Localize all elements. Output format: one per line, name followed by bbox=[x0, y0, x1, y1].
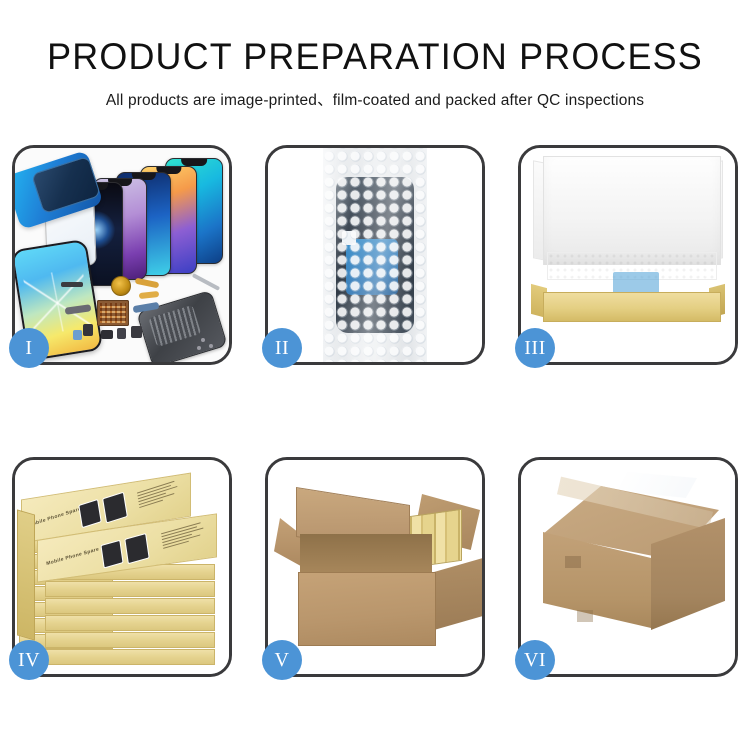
step-badge-6: VI bbox=[515, 640, 555, 680]
carton-inner-wall-icon bbox=[300, 534, 432, 576]
step-image-6 bbox=[521, 460, 735, 674]
step-badge-2: II bbox=[262, 328, 302, 368]
carton-front-icon bbox=[298, 572, 436, 646]
kraft-box-stack-icon: Mobile Phone Spare Parts Mobile Phone Sp… bbox=[15, 460, 229, 674]
spare-parts-group-icon bbox=[59, 274, 199, 352]
step-image-1 bbox=[15, 148, 229, 362]
step-image-2 bbox=[268, 148, 482, 362]
phone-display-fan-icon bbox=[75, 156, 225, 276]
step-image-4: Mobile Phone Spare Parts Mobile Phone Sp… bbox=[15, 460, 229, 674]
step-image-5 bbox=[268, 460, 482, 674]
carton-tab-upper-icon bbox=[565, 556, 581, 568]
box-front-icon bbox=[543, 292, 721, 322]
product-preparation-infographic: PRODUCT PREPARATION PROCESS All products… bbox=[0, 0, 750, 750]
blue-screen-accent-icon bbox=[613, 272, 659, 294]
step-badge-4: IV bbox=[9, 640, 49, 680]
step-badge-1: I bbox=[9, 328, 49, 368]
carton-side-right-icon bbox=[434, 556, 482, 630]
step-panel-4: Mobile Phone Spare Parts Mobile Phone Sp… bbox=[12, 457, 232, 677]
step-panel-1: I bbox=[12, 145, 232, 365]
carton-tab-lower-icon bbox=[577, 610, 593, 622]
header: PRODUCT PREPARATION PROCESS All products… bbox=[0, 0, 750, 110]
page-title: PRODUCT PREPARATION PROCESS bbox=[11, 36, 739, 78]
step-badge-3: III bbox=[515, 328, 555, 368]
film-shine-icon bbox=[323, 148, 427, 362]
step-panel-3: III bbox=[518, 145, 738, 365]
steps-grid: I II bbox=[12, 145, 738, 680]
step-badge-5: V bbox=[262, 640, 302, 680]
step-panel-5: V bbox=[265, 457, 485, 677]
box-lid-back-icon bbox=[543, 156, 721, 265]
step-panel-2: II bbox=[265, 145, 485, 365]
step-panel-6: VI bbox=[518, 457, 738, 677]
step-image-3 bbox=[521, 148, 735, 362]
page-subtitle: All products are image-printed、film-coat… bbox=[0, 88, 750, 110]
